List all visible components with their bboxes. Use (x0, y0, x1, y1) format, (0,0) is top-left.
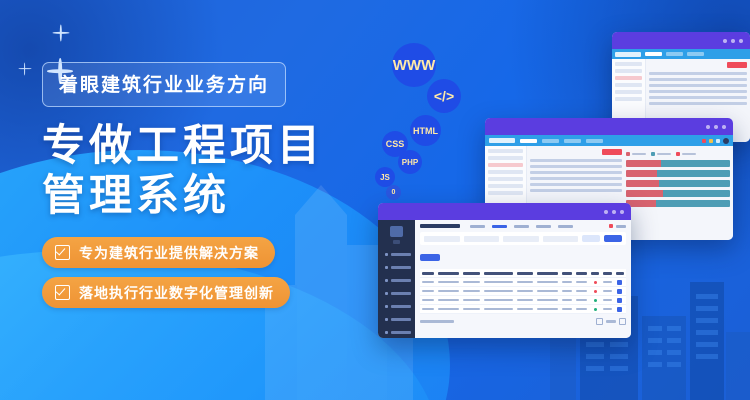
list-item[interactable] (530, 183, 622, 186)
content-front (415, 220, 631, 338)
feature-pill-1[interactable]: 专为建筑行业提供解决方案 (42, 237, 275, 268)
data-table[interactable] (420, 269, 626, 314)
window-dot-icon (620, 210, 624, 214)
notification-icon[interactable] (609, 224, 613, 228)
chart-bar (626, 160, 730, 167)
banner-copy: 着眼建筑行业业务方向 专做工程项目 管理系统 专为建筑行业提供解决方案 落地执行… (42, 62, 362, 317)
table-row[interactable] (420, 278, 626, 287)
sidebar-item[interactable] (615, 69, 642, 73)
content-header (420, 224, 626, 228)
menu-icon (385, 279, 388, 282)
tech-bubble-css-label: CSS (386, 139, 405, 149)
window-dot-icon (714, 125, 718, 129)
list-item[interactable] (530, 177, 622, 180)
collapse-icon[interactable] (393, 240, 400, 244)
sidebar-item-selected[interactable] (488, 163, 523, 167)
table-row[interactable] (420, 305, 626, 314)
window-navbar-middle (485, 135, 733, 146)
user-menu[interactable] (616, 225, 626, 228)
menu-icon (385, 331, 388, 334)
sparkle-icon (52, 24, 69, 41)
row-action-icon[interactable] (617, 307, 622, 312)
tab[interactable] (558, 225, 573, 228)
search-button[interactable] (604, 235, 622, 242)
row-action-icon[interactable] (617, 280, 622, 285)
status-badge (594, 290, 597, 293)
window-dot-icon (723, 39, 727, 43)
chart-legend (626, 152, 730, 156)
chart-bar (626, 200, 730, 207)
legend-item (651, 152, 671, 156)
sidebar-item[interactable] (615, 90, 642, 94)
tech-bubble-php: PHP (398, 150, 422, 174)
legend-item (676, 152, 696, 156)
table-row[interactable] (420, 296, 626, 305)
nav-tab[interactable] (687, 52, 704, 56)
sidebar-item-label (391, 253, 411, 256)
sidebar-item-5[interactable] (382, 302, 411, 311)
sidebar-item-3[interactable] (382, 276, 411, 285)
sidebar-item-1[interactable] (382, 250, 411, 259)
menu-icon (385, 253, 388, 256)
gear-icon[interactable] (716, 139, 720, 143)
feature-pill-1-label: 专为建筑行业提供解决方案 (79, 243, 259, 263)
tech-bubble-www-label: WWW (393, 57, 435, 74)
filter-input[interactable] (464, 236, 500, 242)
sidebar-item[interactable] (615, 97, 642, 101)
window-titlebar-front (378, 203, 631, 220)
list-item[interactable] (649, 96, 747, 99)
status-badge (594, 308, 597, 311)
pagination-next[interactable] (619, 318, 626, 325)
subtitle-text: 着眼建筑行业业务方向 (59, 70, 269, 97)
table-header-row (420, 269, 626, 278)
tech-bubble-js-label: JS (380, 173, 390, 182)
tech-bubble-html-label: HTML (413, 126, 438, 136)
primary-action-button[interactable] (602, 149, 622, 155)
status-badge (594, 299, 597, 302)
nav-tab[interactable] (586, 139, 603, 143)
sidebar-item-selected[interactable] (615, 76, 642, 80)
sidebar-item-label (391, 292, 411, 295)
legend-item (626, 152, 646, 156)
sidebar-item-label (391, 279, 411, 282)
sidebar-item[interactable] (488, 184, 523, 188)
menu-icon (385, 305, 388, 308)
feature-pill-2[interactable]: 落地执行行业数字化管理创新 (42, 277, 290, 308)
sidebar-item-label (391, 266, 411, 269)
dashboard-window-front[interactable] (378, 203, 631, 338)
list-item[interactable] (530, 159, 622, 162)
list-item[interactable] (530, 165, 622, 168)
list-item[interactable] (649, 90, 747, 93)
checkbox-checked-icon (55, 245, 70, 260)
filter-input[interactable] (424, 236, 460, 242)
chart-bar (626, 190, 730, 197)
chart-bar (626, 180, 730, 187)
message-icon[interactable] (709, 139, 713, 143)
filter-input[interactable] (503, 236, 539, 242)
window-dot-icon (739, 39, 743, 43)
app-logo (615, 52, 641, 57)
filter-bar[interactable] (420, 232, 626, 245)
list-item[interactable] (649, 78, 747, 81)
window-navbar-back (612, 49, 750, 59)
notification-icon[interactable] (702, 139, 706, 143)
sidebar-item[interactable] (488, 191, 523, 195)
tech-bubble-js: JS (375, 167, 395, 187)
tech-bubble-code-label: </> (434, 88, 454, 104)
reset-button[interactable] (582, 235, 600, 242)
window-titlebar-middle (485, 118, 733, 135)
tab[interactable] (514, 225, 529, 228)
avatar[interactable] (723, 138, 729, 144)
bar-chart (626, 149, 730, 237)
sidebar-item-6[interactable] (382, 315, 411, 324)
tech-bubble-zero-label: 0 (392, 189, 396, 196)
nav-tab[interactable] (520, 139, 537, 143)
headline-line-1: 专做工程项目 (42, 121, 362, 171)
page-heading (420, 224, 460, 228)
sidebar-front[interactable] (378, 220, 415, 338)
app-logo (489, 138, 515, 143)
list-item[interactable] (530, 171, 622, 174)
sidebar-item-label (391, 305, 411, 308)
sidebar-item[interactable] (488, 149, 523, 153)
sidebar-item-4[interactable] (382, 289, 411, 298)
menu-icon (385, 266, 388, 269)
tech-bubble-code: </> (427, 79, 461, 113)
sidebar-item-label (391, 331, 411, 334)
sidebar-item[interactable] (615, 83, 642, 87)
nav-tab[interactable] (666, 52, 683, 56)
tab[interactable] (470, 225, 485, 228)
window-dot-icon (612, 210, 616, 214)
table-row[interactable] (420, 287, 626, 296)
sidebar-item-7[interactable] (382, 328, 411, 337)
nav-tab[interactable] (564, 139, 581, 143)
checkbox-checked-icon (55, 285, 70, 300)
marketing-banner: 着眼建筑行业业务方向 专做工程项目 管理系统 专为建筑行业提供解决方案 落地执行… (0, 0, 750, 400)
tab-bar (470, 225, 573, 228)
menu-icon (385, 318, 388, 321)
filter-input[interactable] (543, 236, 579, 242)
sidebar-item[interactable] (488, 170, 523, 174)
add-button[interactable] (420, 254, 440, 261)
row-action-icon[interactable] (617, 298, 622, 303)
window-body-front (378, 220, 631, 338)
tab[interactable] (536, 225, 551, 228)
window-dot-icon (731, 39, 735, 43)
page-title: 专做工程项目 管理系统 (42, 121, 362, 221)
chart-bar (626, 170, 730, 177)
pagination-pages[interactable] (606, 320, 616, 323)
tech-bubble-php-label: PHP (402, 158, 418, 167)
row-action-icon[interactable] (617, 289, 622, 294)
feature-pill-list: 专为建筑行业提供解决方案 落地执行行业数字化管理创新 (42, 237, 362, 308)
list-item[interactable] (649, 72, 747, 75)
list-item[interactable] (649, 84, 747, 87)
window-titlebar-back (612, 32, 750, 49)
sidebar-item[interactable] (488, 177, 523, 181)
pagination[interactable] (420, 318, 626, 325)
nav-tab[interactable] (542, 139, 559, 143)
sidebar-item[interactable] (488, 156, 523, 160)
window-dot-icon (604, 210, 608, 214)
tech-bubble-zero: 0 (386, 185, 401, 200)
primary-action-button[interactable] (727, 62, 747, 68)
pagination-summary (420, 320, 454, 323)
tab-active[interactable] (492, 225, 507, 228)
feature-pill-2-label: 落地执行行业数字化管理创新 (79, 283, 274, 303)
tech-bubble-www: WWW (392, 43, 436, 87)
sidebar-item[interactable] (615, 62, 642, 66)
sidebar-item-2[interactable] (382, 263, 411, 272)
window-dot-icon (722, 125, 726, 129)
tech-bubble-html: HTML (410, 115, 441, 146)
headline-line-2: 管理系统 (42, 171, 362, 221)
sparkle-icon (18, 62, 31, 75)
pagination-prev[interactable] (596, 318, 603, 325)
subtitle-badge: 着眼建筑行业业务方向 (42, 62, 286, 107)
nav-tab[interactable] (645, 52, 662, 56)
list-item[interactable] (530, 189, 622, 192)
window-dot-icon (706, 125, 710, 129)
list-item[interactable] (649, 102, 747, 105)
sidebar-item-label (391, 318, 411, 321)
status-badge (594, 281, 597, 284)
menu-icon (385, 292, 388, 295)
navbar-actions (702, 138, 729, 144)
app-logo-icon (390, 226, 403, 237)
